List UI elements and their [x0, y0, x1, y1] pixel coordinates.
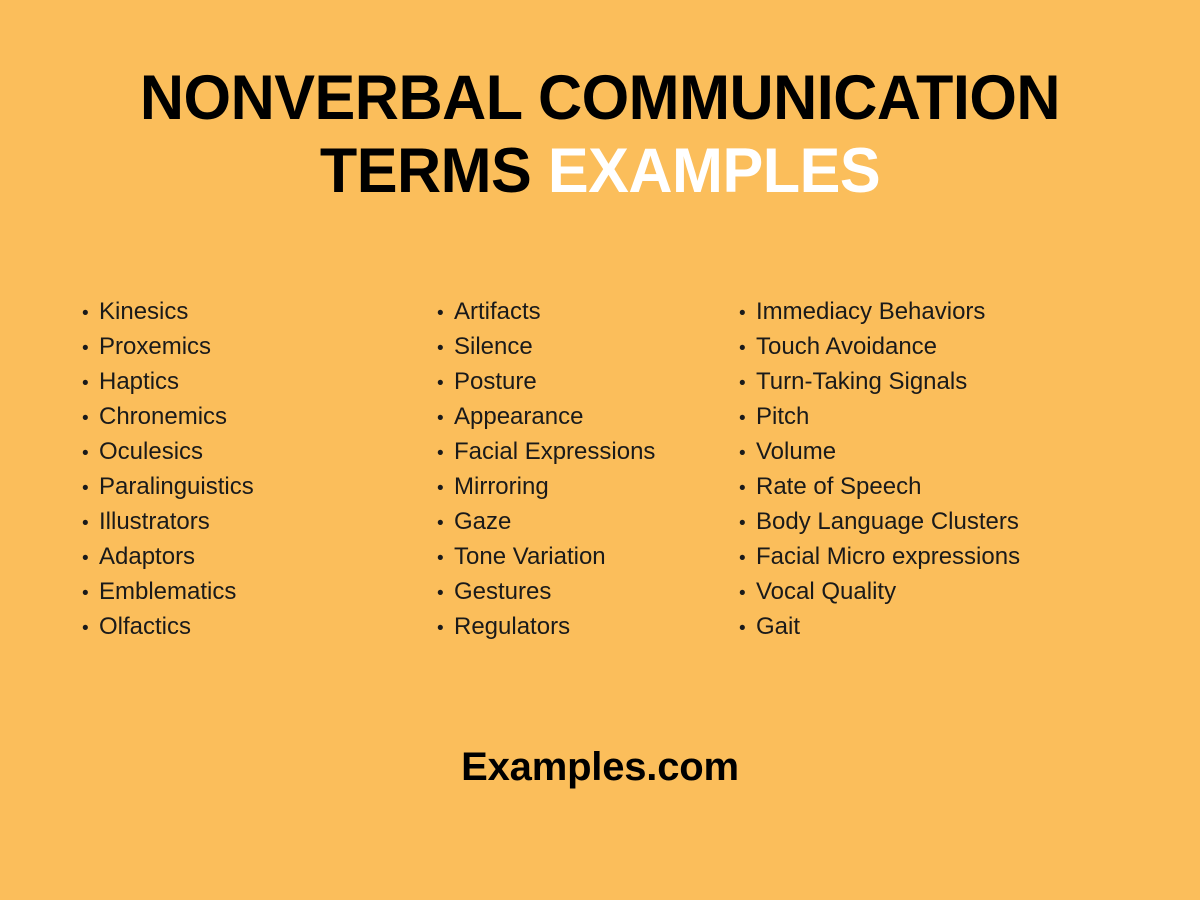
- bullet-icon: •: [82, 612, 99, 645]
- term-label: Kinesics: [99, 295, 188, 328]
- bullet-icon: •: [437, 367, 454, 400]
- list-item: •Tone Variation: [437, 540, 739, 575]
- list-item: •Adaptors: [82, 540, 437, 575]
- list-item: •Emblematics: [82, 575, 437, 610]
- list-item: •Chronemics: [82, 400, 437, 435]
- term-label: Volume: [756, 435, 836, 468]
- term-label: Touch Avoidance: [756, 330, 937, 363]
- term-label: Emblematics: [99, 575, 236, 608]
- list-item: •Posture: [437, 365, 739, 400]
- term-label: Olfactics: [99, 610, 191, 643]
- list-item: •Oculesics: [82, 435, 437, 470]
- terms-column-3: •Immediacy Behaviors •Touch Avoidance •T…: [739, 295, 1099, 645]
- footer: Examples.com: [0, 744, 1200, 790]
- term-label: Chronemics: [99, 400, 227, 433]
- list-item: •Illustrators: [82, 505, 437, 540]
- bullet-icon: •: [82, 437, 99, 470]
- bullet-icon: •: [739, 437, 756, 470]
- terms-list-1: •Kinesics •Proxemics •Haptics •Chronemic…: [82, 295, 437, 645]
- list-item: •Turn-Taking Signals: [739, 365, 1099, 400]
- list-item: •Body Language Clusters: [739, 505, 1099, 540]
- list-item: •Facial Expressions: [437, 435, 739, 470]
- title-line-1: NONVERBAL COMMUNICATION: [86, 62, 1114, 134]
- terms-list-2: •Artifacts •Silence •Posture •Appearance…: [437, 295, 739, 645]
- bullet-icon: •: [739, 507, 756, 540]
- term-label: Oculesics: [99, 435, 203, 468]
- list-item: •Facial Micro expressions: [739, 540, 1099, 575]
- term-label: Tone Variation: [454, 540, 606, 573]
- terms-column-2: •Artifacts •Silence •Posture •Appearance…: [437, 295, 739, 645]
- term-label: Proxemics: [99, 330, 211, 363]
- list-item: •Volume: [739, 435, 1099, 470]
- term-label: Appearance: [454, 400, 583, 433]
- bullet-icon: •: [437, 577, 454, 610]
- bullet-icon: •: [739, 402, 756, 435]
- term-label: Silence: [454, 330, 533, 363]
- term-label: Gestures: [454, 575, 551, 608]
- terms-column-1: •Kinesics •Proxemics •Haptics •Chronemic…: [82, 295, 437, 645]
- title-line-2-accent: EXAMPLES: [548, 136, 880, 206]
- term-label: Artifacts: [454, 295, 541, 328]
- bullet-icon: •: [437, 402, 454, 435]
- bullet-icon: •: [437, 332, 454, 365]
- term-label: Facial Expressions: [454, 435, 655, 468]
- term-label: Paralinguistics: [99, 470, 254, 503]
- bullet-icon: •: [739, 367, 756, 400]
- list-item: •Mirroring: [437, 470, 739, 505]
- list-item: •Haptics: [82, 365, 437, 400]
- bullet-icon: •: [82, 297, 99, 330]
- title-line-2: TERMS EXAMPLES: [86, 135, 1114, 207]
- bullet-icon: •: [82, 542, 99, 575]
- bullet-icon: •: [82, 402, 99, 435]
- term-label: Vocal Quality: [756, 575, 896, 608]
- poster-canvas: NONVERBAL COMMUNICATION TERMS EXAMPLES •…: [0, 0, 1200, 900]
- list-item: •Silence: [437, 330, 739, 365]
- bullet-icon: •: [82, 472, 99, 505]
- bullet-icon: •: [82, 577, 99, 610]
- list-item: •Touch Avoidance: [739, 330, 1099, 365]
- bullet-icon: •: [437, 437, 454, 470]
- list-item: •Artifacts: [437, 295, 739, 330]
- list-item: •Gestures: [437, 575, 739, 610]
- list-item: •Gait: [739, 610, 1099, 645]
- term-label: Posture: [454, 365, 537, 398]
- bullet-icon: •: [739, 472, 756, 505]
- term-label: Immediacy Behaviors: [756, 295, 985, 328]
- term-label: Illustrators: [99, 505, 210, 538]
- bullet-icon: •: [739, 612, 756, 645]
- list-item: •Olfactics: [82, 610, 437, 645]
- term-label: Mirroring: [454, 470, 549, 503]
- list-item: •Paralinguistics: [82, 470, 437, 505]
- term-label: Gait: [756, 610, 800, 643]
- term-label: Gaze: [454, 505, 511, 538]
- list-item: •Rate of Speech: [739, 470, 1099, 505]
- bullet-icon: •: [437, 612, 454, 645]
- term-label: Body Language Clusters: [756, 505, 1019, 538]
- term-label: Pitch: [756, 400, 809, 433]
- term-label: Adaptors: [99, 540, 195, 573]
- list-item: •Proxemics: [82, 330, 437, 365]
- bullet-icon: •: [739, 577, 756, 610]
- terms-list-3: •Immediacy Behaviors •Touch Avoidance •T…: [739, 295, 1099, 645]
- bullet-icon: •: [82, 367, 99, 400]
- bullet-icon: •: [437, 297, 454, 330]
- title-line-2-primary: TERMS: [320, 136, 531, 206]
- bullet-icon: •: [437, 542, 454, 575]
- list-item: •Appearance: [437, 400, 739, 435]
- term-label: Turn-Taking Signals: [756, 365, 967, 398]
- list-item: •Kinesics: [82, 295, 437, 330]
- list-item: •Vocal Quality: [739, 575, 1099, 610]
- term-label: Facial Micro expressions: [756, 540, 1020, 573]
- bullet-icon: •: [437, 507, 454, 540]
- list-item: •Gaze: [437, 505, 739, 540]
- list-item: •Regulators: [437, 610, 739, 645]
- brand-wordmark: Examples.com: [461, 745, 739, 789]
- terms-columns: •Kinesics •Proxemics •Haptics •Chronemic…: [70, 295, 1130, 645]
- page-title: NONVERBAL COMMUNICATION TERMS EXAMPLES: [70, 62, 1130, 207]
- term-label: Haptics: [99, 365, 179, 398]
- bullet-icon: •: [82, 332, 99, 365]
- bullet-icon: •: [437, 472, 454, 505]
- list-item: •Pitch: [739, 400, 1099, 435]
- bullet-icon: •: [739, 297, 756, 330]
- bullet-icon: •: [739, 542, 756, 575]
- term-label: Regulators: [454, 610, 570, 643]
- bullet-icon: •: [739, 332, 756, 365]
- bullet-icon: •: [82, 507, 99, 540]
- list-item: •Immediacy Behaviors: [739, 295, 1099, 330]
- term-label: Rate of Speech: [756, 470, 921, 503]
